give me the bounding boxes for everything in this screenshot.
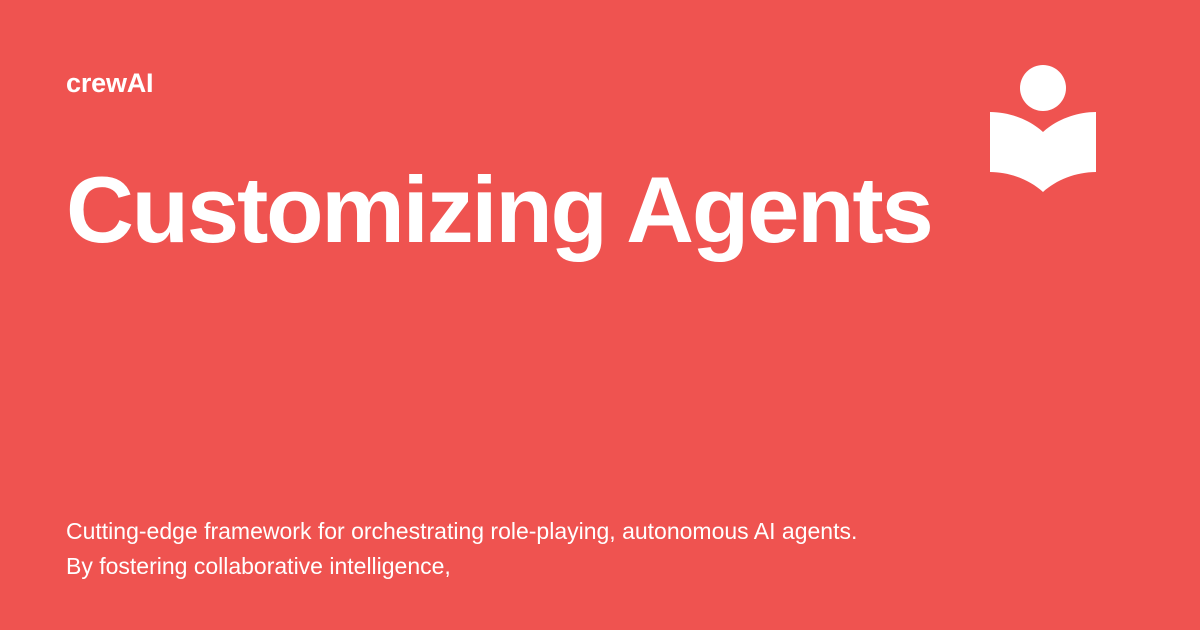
brand-name: crewAI bbox=[66, 70, 153, 97]
open-book-reader-icon bbox=[988, 62, 1100, 194]
brand: crewAI bbox=[66, 70, 153, 97]
page-description: Cutting-edge framework for orchestrating… bbox=[66, 514, 886, 584]
page-title: Customizing Agents bbox=[66, 160, 966, 260]
og-card: crewAI Customizing Agents Cutting-edge f… bbox=[0, 0, 1200, 630]
